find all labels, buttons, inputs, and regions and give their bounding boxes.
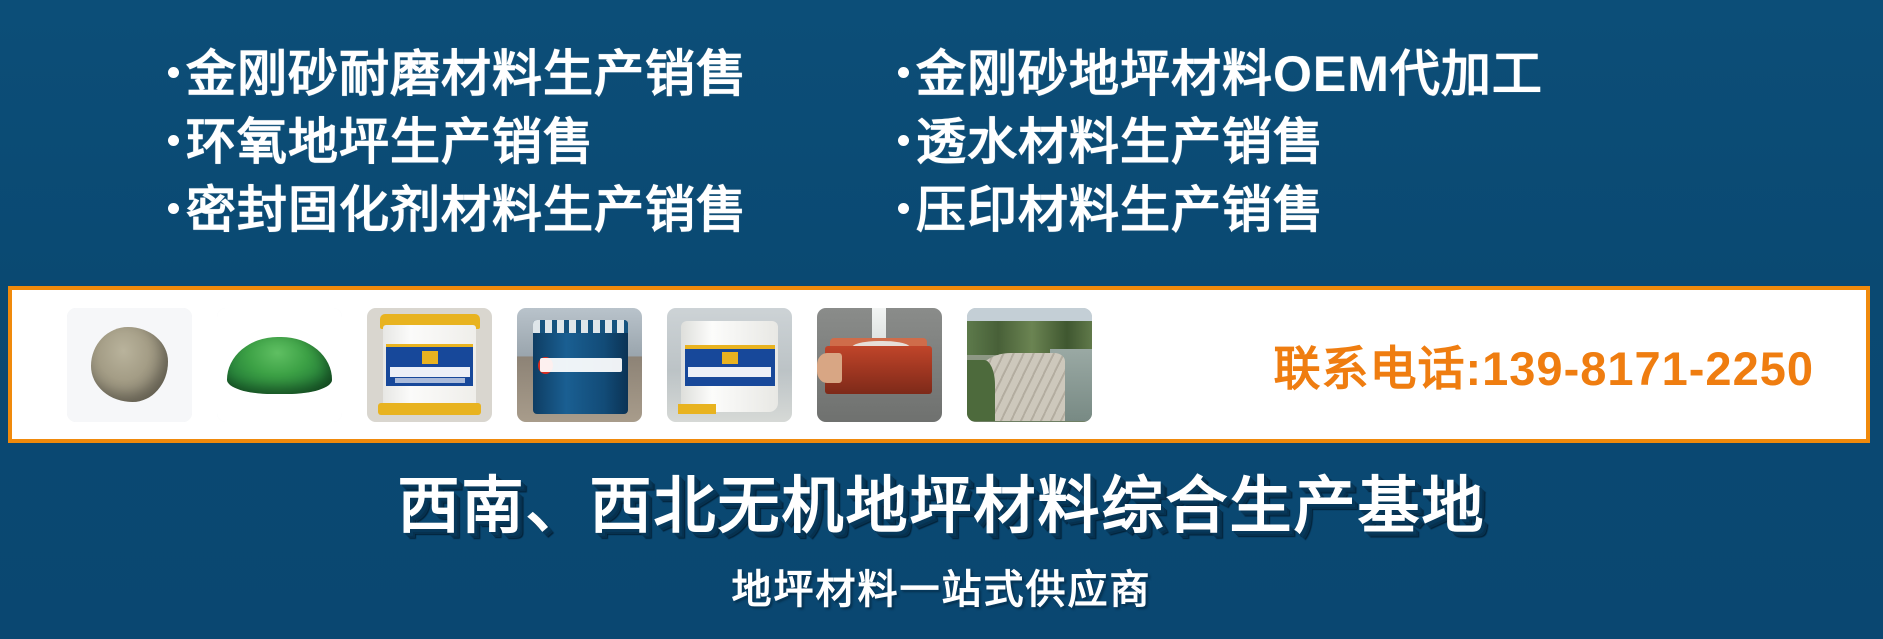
grass-region bbox=[967, 360, 995, 422]
powder-pile-shape bbox=[91, 327, 169, 402]
photo-surface bbox=[67, 308, 192, 422]
product-thumbnail-concrete-sealer-pail bbox=[367, 308, 492, 422]
feature-item: 透水材料生产销售 bbox=[898, 104, 1658, 172]
photo-surface bbox=[367, 308, 492, 422]
bullet-dot-icon bbox=[898, 203, 909, 214]
feature-item: 金刚砂耐磨材料生产销售 bbox=[168, 36, 868, 104]
pail-label-subtext-block bbox=[395, 378, 465, 383]
pail-base-shape bbox=[378, 403, 481, 414]
feature-label: 环氧地坪生产销售 bbox=[186, 102, 594, 174]
pail-base-shape bbox=[678, 404, 716, 413]
powder-pile-shape bbox=[227, 337, 332, 394]
feature-item: 环氧地坪生产销售 bbox=[168, 104, 868, 172]
feature-column-right: 金刚砂地坪材料OEM代加工 透水材料生产销售 压印材料生产销售 bbox=[898, 36, 1658, 248]
pail-label-text-block bbox=[390, 367, 470, 377]
product-thumbnail-stamped-concrete-path bbox=[967, 308, 1092, 422]
feature-label: 压印材料生产销售 bbox=[916, 170, 1324, 242]
drum-rim-shape bbox=[533, 320, 628, 333]
feature-item: 金刚砂地坪材料OEM代加工 bbox=[898, 36, 1658, 104]
bullet-dot-icon bbox=[168, 203, 179, 214]
brand-logo-mark bbox=[422, 351, 438, 365]
feature-label: 金刚砂地坪材料OEM代加工 bbox=[916, 34, 1543, 106]
photo-surface bbox=[967, 308, 1092, 422]
photo-surface bbox=[667, 308, 792, 422]
feature-list-section: 金刚砂耐磨材料生产销售 环氧地坪生产销售 密封固化剂材料生产销售 金刚砂地坪材料… bbox=[0, 36, 1883, 248]
product-thumbnail-permeable-paving-block bbox=[817, 308, 942, 422]
banner-subheadline: 地坪材料一站式供应商 bbox=[0, 557, 1883, 615]
product-thumbnail-green-floor-powder bbox=[217, 308, 342, 422]
brand-logo-mark bbox=[722, 352, 738, 365]
product-thumbnail-grey-abrasive-powder bbox=[67, 308, 192, 422]
bullet-dot-icon bbox=[168, 135, 179, 146]
feature-label: 金刚砂耐磨材料生产销售 bbox=[186, 34, 747, 106]
feature-item: 密封固化剂材料生产销售 bbox=[168, 172, 868, 240]
feature-label: 透水材料生产销售 bbox=[916, 102, 1324, 174]
advertising-banner: 金刚砂耐磨材料生产销售 环氧地坪生产销售 密封固化剂材料生产销售 金刚砂地坪材料… bbox=[0, 0, 1883, 639]
feature-label: 密封固化剂材料生产销售 bbox=[186, 170, 747, 242]
photo-surface bbox=[217, 308, 342, 422]
photo-surface bbox=[817, 308, 942, 422]
pail-label-text-block bbox=[688, 367, 771, 377]
bullet-dot-icon bbox=[898, 135, 909, 146]
bullet-dot-icon bbox=[898, 67, 909, 78]
hand-shape bbox=[817, 353, 842, 383]
product-strip-panel: 联系电话:139-8171-2250 bbox=[8, 286, 1870, 443]
banner-headline: 西南、西北无机地坪材料综合生产基地 bbox=[0, 455, 1883, 545]
product-thumbnail-list bbox=[67, 308, 1117, 422]
product-thumbnail-hongma-drum bbox=[517, 308, 642, 422]
brand-wordmark-block bbox=[540, 358, 623, 373]
bullet-dot-icon bbox=[168, 67, 179, 78]
contact-phone-label: 联系电话:139-8171-2250 bbox=[1274, 330, 1815, 399]
photo-surface bbox=[517, 308, 642, 422]
feature-item: 压印材料生产销售 bbox=[898, 172, 1658, 240]
feature-column-left: 金刚砂耐磨材料生产销售 环氧地坪生产销售 密封固化剂材料生产销售 bbox=[168, 36, 868, 248]
product-thumbnail-epoxy-floor-coating-pail bbox=[667, 308, 792, 422]
